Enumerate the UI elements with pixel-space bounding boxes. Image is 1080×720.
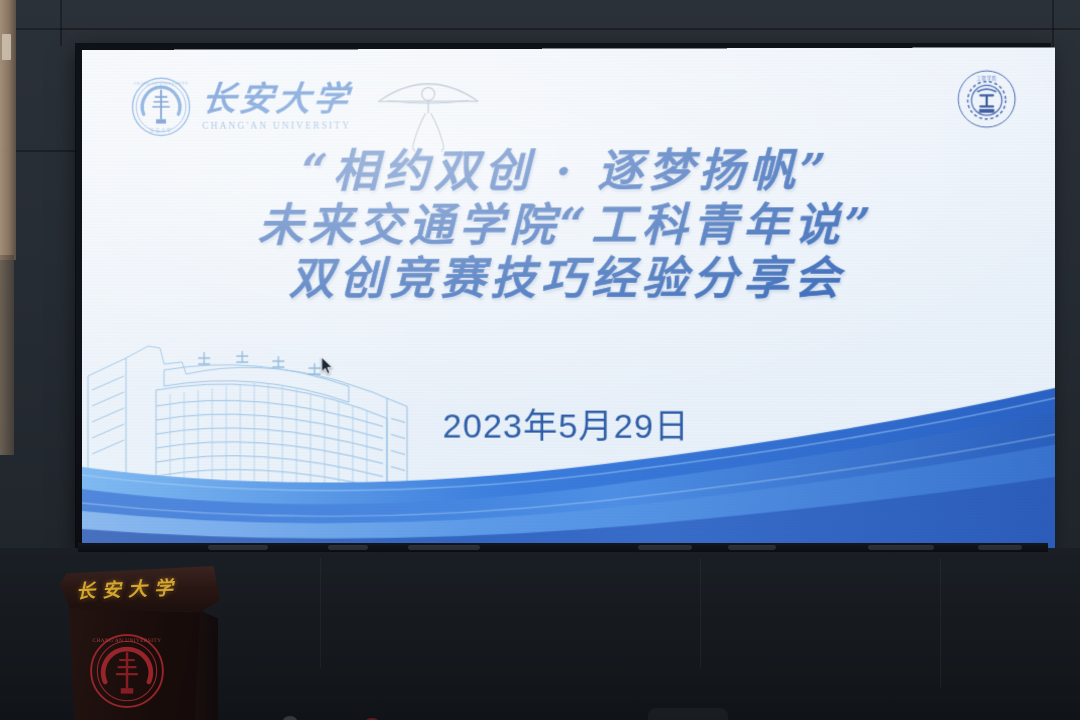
podium-university-emblem-icon: CHANG'AN UNIVERSITY: [88, 632, 166, 710]
wall-trim-left-lower: [0, 255, 14, 455]
wall-switch: [2, 34, 11, 60]
screen-title-block: “相约双创 · 逐梦扬帆” 未来交通学院“工科青年说” 双创竞赛技巧经验分享会: [82, 146, 1055, 303]
svg-text:CHANG'AN UNIVERSITY: CHANG'AN UNIVERSITY: [93, 638, 162, 644]
wall-seam: [60, 0, 62, 46]
title-line-2: 未来交通学院“工科青年说”: [82, 201, 1055, 250]
conference-hall-photo: CHANG'AN UNIVERSITY 长安大学 长安大学 CHANG'AN U…: [0, 0, 1080, 720]
wall-seam: [0, 28, 1080, 30]
screen-bottom-trim: [78, 543, 1048, 552]
gong-gear-emblem-icon: 工程学院: [955, 68, 1018, 131]
wave-decoration: [82, 371, 1055, 549]
university-wordmark: 长安大学 CHANG'AN UNIVERSITY: [202, 82, 351, 131]
university-name-en: CHANG'AN UNIVERSITY: [202, 121, 351, 131]
chang-an-university-seal-icon: CHANG'AN UNIVERSITY 长安大学: [130, 76, 192, 138]
title-line-1: “相约双创 · 逐梦扬帆”: [82, 146, 1055, 195]
svg-text:工程学院: 工程学院: [977, 75, 997, 82]
lectern-podium: CHANG'AN UNIVERSITY 长安大学: [60, 566, 240, 720]
university-logo-group: CHANG'AN UNIVERSITY 长安大学 长安大学 CHANG'AN U…: [130, 75, 351, 138]
svg-text:长安大学: 长安大学: [150, 127, 172, 134]
led-screen: CHANG'AN UNIVERSITY 长安大学 长安大学 CHANG'AN U…: [82, 47, 1055, 548]
title-line-3: 双创竞赛技巧经验分享会: [82, 255, 1055, 303]
person-under-dome-icon: [373, 61, 484, 157]
university-name-cn: 长安大学: [201, 82, 353, 116]
svg-text:CHANG'AN UNIVERSITY: CHANG'AN UNIVERSITY: [134, 80, 189, 85]
mouse-cursor-arrow-icon: [321, 356, 334, 375]
podium-name-label: 长安大学: [76, 573, 181, 604]
